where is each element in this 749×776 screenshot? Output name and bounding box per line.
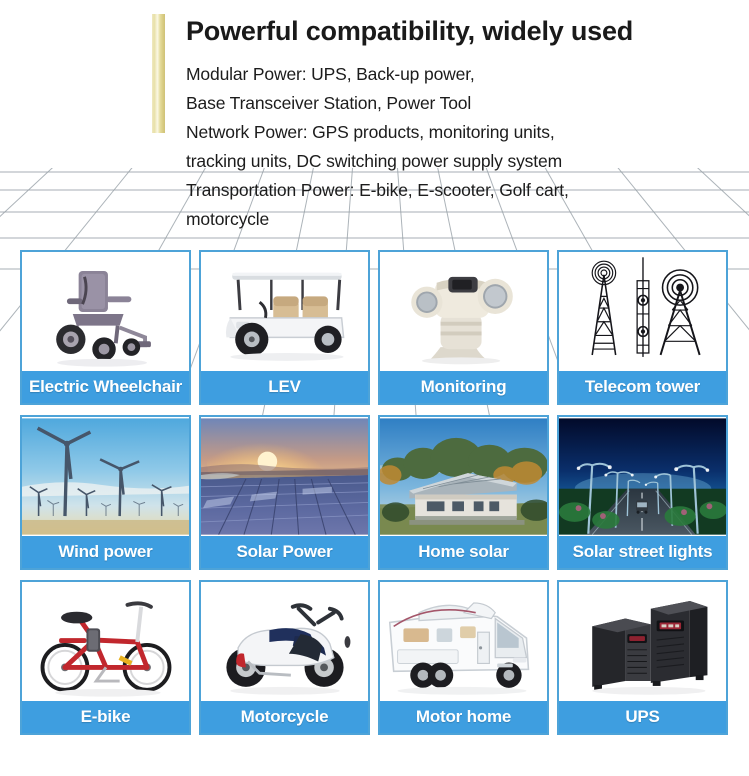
- accent-bar: [152, 14, 165, 133]
- rooftop-solar-house-icon: [380, 417, 547, 536]
- promo-banner: Powerful compatibility, widely used Modu…: [0, 0, 749, 776]
- description-line: Transportation Power: E-bike, E-scooter,…: [186, 176, 746, 205]
- application-card-solar-street-lights[interactable]: Solar street lights: [557, 415, 728, 570]
- card-label: Home solar: [380, 536, 547, 568]
- motor-scooter-icon: [201, 582, 368, 701]
- card-label: LEV: [201, 371, 368, 403]
- description-line: Modular Power: UPS, Back-up power,: [186, 60, 746, 89]
- golf-cart-icon: [201, 252, 368, 371]
- application-card-motorcycle[interactable]: Motorcycle: [199, 580, 370, 735]
- card-label: UPS: [559, 701, 726, 733]
- description-paragraph-modular: Modular Power: UPS, Back-up power, Base …: [186, 60, 746, 118]
- page-title: Powerful compatibility, widely used: [186, 14, 731, 48]
- card-label: Solar Power: [201, 536, 368, 568]
- application-card-telecom-tower[interactable]: Telecom tower: [557, 250, 728, 405]
- card-label: Motorcycle: [201, 701, 368, 733]
- solar-street-lights-icon: [559, 417, 726, 536]
- description-line: tracking units, DC switching power suppl…: [186, 147, 746, 176]
- application-card-electric-wheelchair[interactable]: Electric Wheelchair: [20, 250, 191, 405]
- application-card-e-bike[interactable]: E-bike: [20, 580, 191, 735]
- card-label: Wind power: [22, 536, 189, 568]
- description-line: Base Transceiver Station, Power Tool: [186, 89, 746, 118]
- card-label: Motor home: [380, 701, 547, 733]
- card-label: Electric Wheelchair: [22, 371, 189, 403]
- application-card-ups[interactable]: UPS: [557, 580, 728, 735]
- solar-farm-icon: [201, 417, 368, 536]
- telecom-tower-icon: [559, 252, 726, 371]
- ups-cabinets-icon: [559, 582, 726, 701]
- motor-home-icon: [380, 582, 547, 701]
- card-label: Solar street lights: [559, 536, 726, 568]
- wind-turbines-icon: [22, 417, 189, 536]
- application-card-motor-home[interactable]: Motor home: [378, 580, 549, 735]
- application-card-wind-power[interactable]: Wind power: [20, 415, 191, 570]
- application-card-home-solar[interactable]: Home solar: [378, 415, 549, 570]
- description-paragraph-transportation: Transportation Power: E-bike, E-scooter,…: [186, 176, 746, 234]
- e-bike-icon: [22, 582, 189, 701]
- application-card-monitoring[interactable]: Monitoring: [378, 250, 549, 405]
- electric-wheelchair-icon: [22, 252, 189, 371]
- card-label: E-bike: [22, 701, 189, 733]
- application-description: Modular Power: UPS, Back-up power, Base …: [186, 60, 746, 234]
- application-card-solar-power[interactable]: Solar Power: [199, 415, 370, 570]
- description-paragraph-network: Network Power: GPS products, monitoring …: [186, 118, 746, 176]
- card-label: Telecom tower: [559, 371, 726, 403]
- description-line: motorcycle: [186, 205, 746, 234]
- application-card-lev[interactable]: LEV: [199, 250, 370, 405]
- ptz-camera-icon: [380, 252, 547, 371]
- header-block: Powerful compatibility, widely used Modu…: [0, 0, 749, 235]
- application-card-grid: Electric Wheelchair: [20, 250, 730, 735]
- description-line: Network Power: GPS products, monitoring …: [186, 118, 746, 147]
- card-label: Monitoring: [380, 371, 547, 403]
